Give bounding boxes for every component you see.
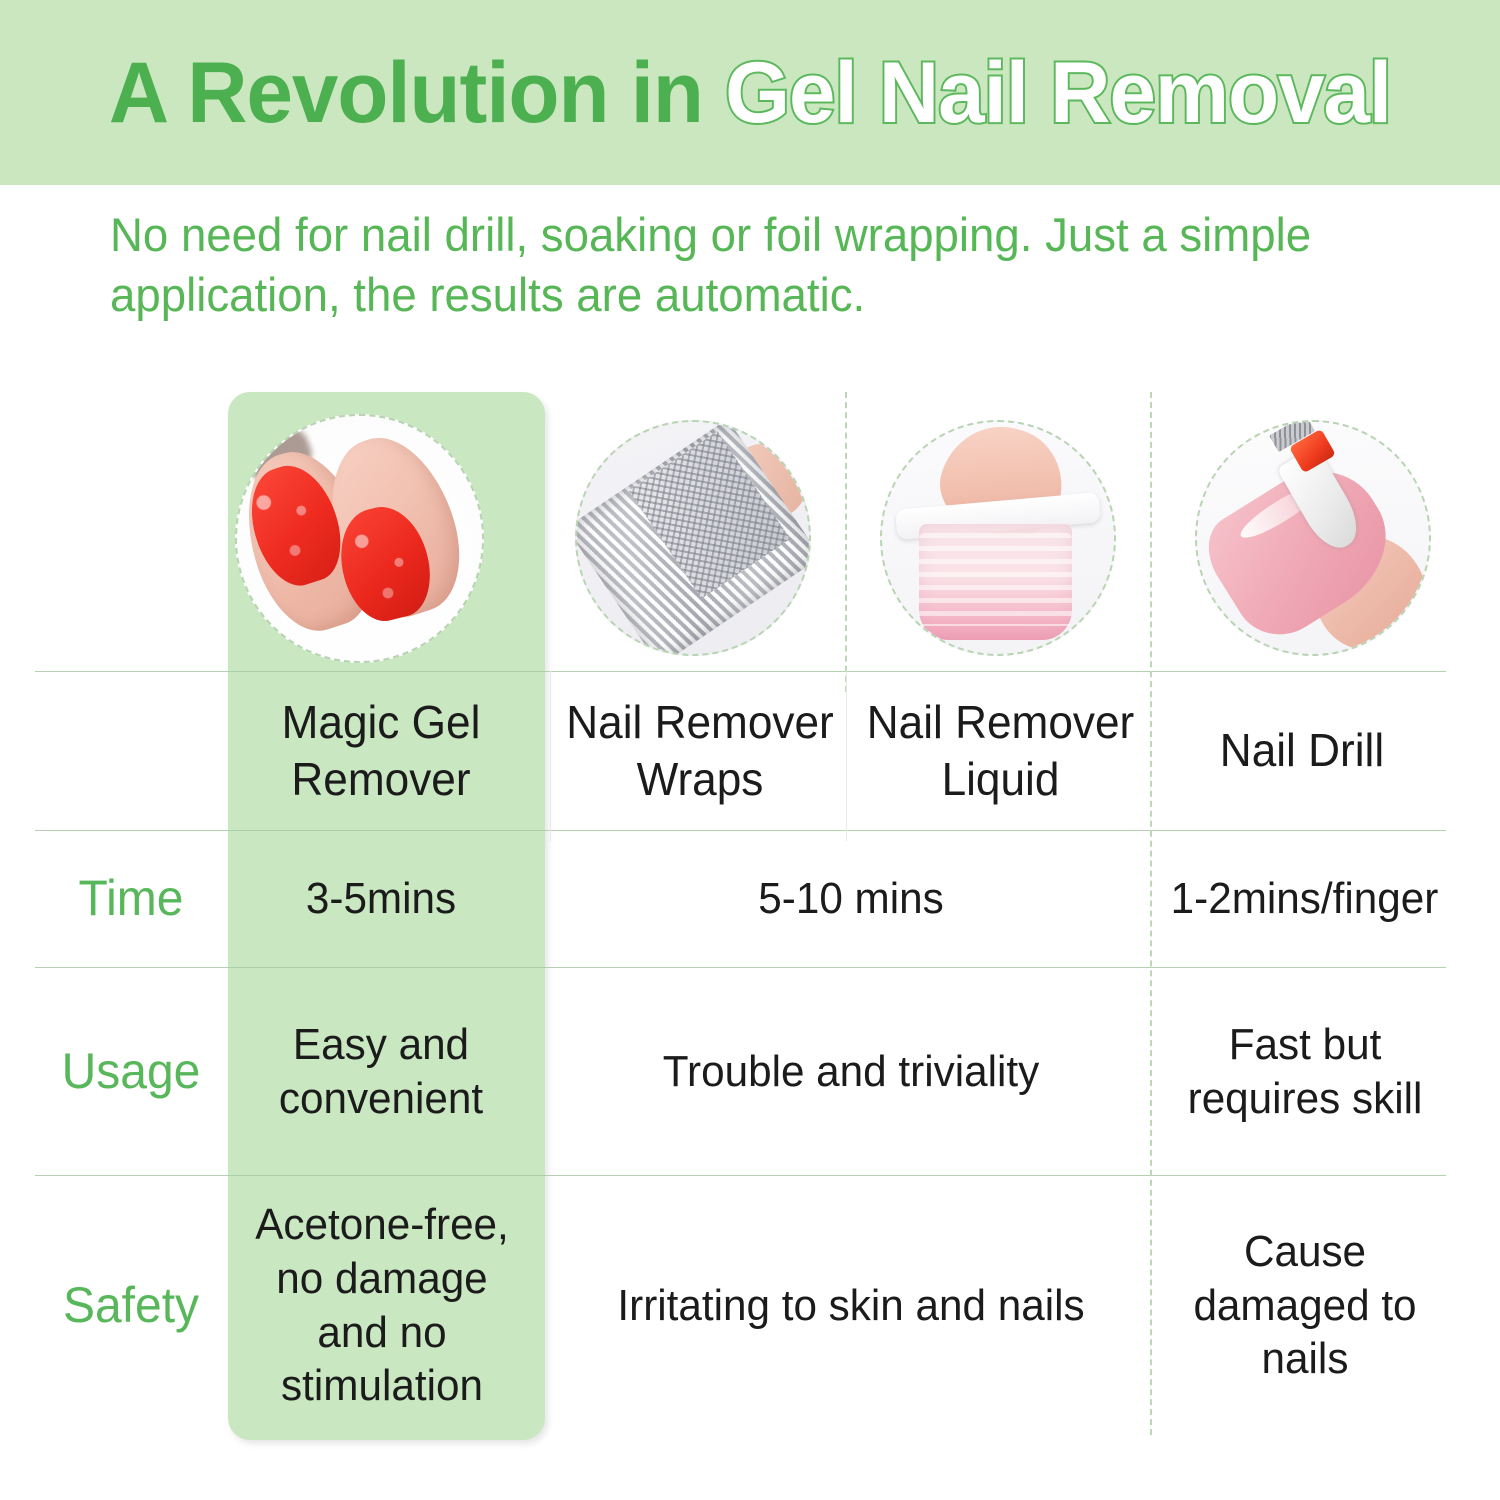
product-image-magic-gel-remover: [235, 414, 484, 663]
column-divider-3: [1150, 392, 1152, 1435]
header-banner: A Revolution in Gel Nail Removal: [0, 0, 1500, 185]
row-label-time: Time: [39, 832, 223, 965]
column-divider-1: [550, 671, 551, 841]
photo-foil-wrap: [577, 422, 809, 654]
product-image-nail-drill: [1195, 420, 1431, 656]
column-header-magic-gel-remover: Magic Gel Remover: [237, 678, 525, 823]
cell-safety-nail-drill: Cause damaged to nails: [1175, 1178, 1434, 1433]
column-header-nail-remover-wraps: Nail Remover Wraps: [561, 678, 839, 823]
cell-usage-wraps-and-liquid: Trouble and triviality: [567, 970, 1135, 1173]
column-divider-2-lower: [846, 671, 847, 841]
row-label-safety: Safety: [39, 1178, 223, 1433]
cell-time-wraps-and-liquid: 5-10 mins: [567, 832, 1135, 965]
page-title: A Revolution in Gel Nail Removal: [109, 50, 1391, 136]
photo-nail-drill: [1197, 422, 1429, 654]
row-divider-header: [35, 671, 1446, 672]
column-header-nail-drill: Nail Drill: [1163, 678, 1441, 823]
photo-nails-with-red-gel: [237, 416, 482, 661]
product-image-nail-remover-wraps: [575, 420, 811, 656]
bottle-ridges: [919, 533, 1072, 626]
column-divider-2: [845, 392, 847, 692]
page-title-part-accent: Gel Nail Removal: [725, 45, 1391, 141]
page-title-part-primary: A Revolution in: [109, 45, 725, 141]
comparison-table: Magic Gel Remover Nail Remover Wraps Nai…: [35, 392, 1460, 1440]
cell-time-nail-drill: 1-2mins/finger: [1163, 832, 1446, 965]
cell-safety-wraps-and-liquid: Irritating to skin and nails: [567, 1178, 1135, 1433]
cell-safety-magic-gel-remover: Acetone-free, no damage and no stimulati…: [243, 1178, 521, 1433]
cell-time-magic-gel-remover: 3-5mins: [237, 832, 525, 965]
photo-liquid-bottle: [882, 422, 1114, 654]
row-divider-time: [35, 830, 1446, 831]
row-divider-safety: [35, 1175, 1446, 1176]
subtitle-text: No need for nail drill, soaking or foil …: [110, 205, 1361, 325]
cell-usage-magic-gel-remover: Easy and convenient: [250, 970, 511, 1173]
row-divider-usage: [35, 967, 1446, 968]
column-header-nail-remover-liquid: Nail Remover Liquid: [859, 678, 1142, 823]
product-image-nail-remover-liquid: [880, 420, 1116, 656]
cell-usage-nail-drill: Fast but requires skill: [1175, 970, 1434, 1173]
row-label-usage: Usage: [39, 970, 223, 1173]
